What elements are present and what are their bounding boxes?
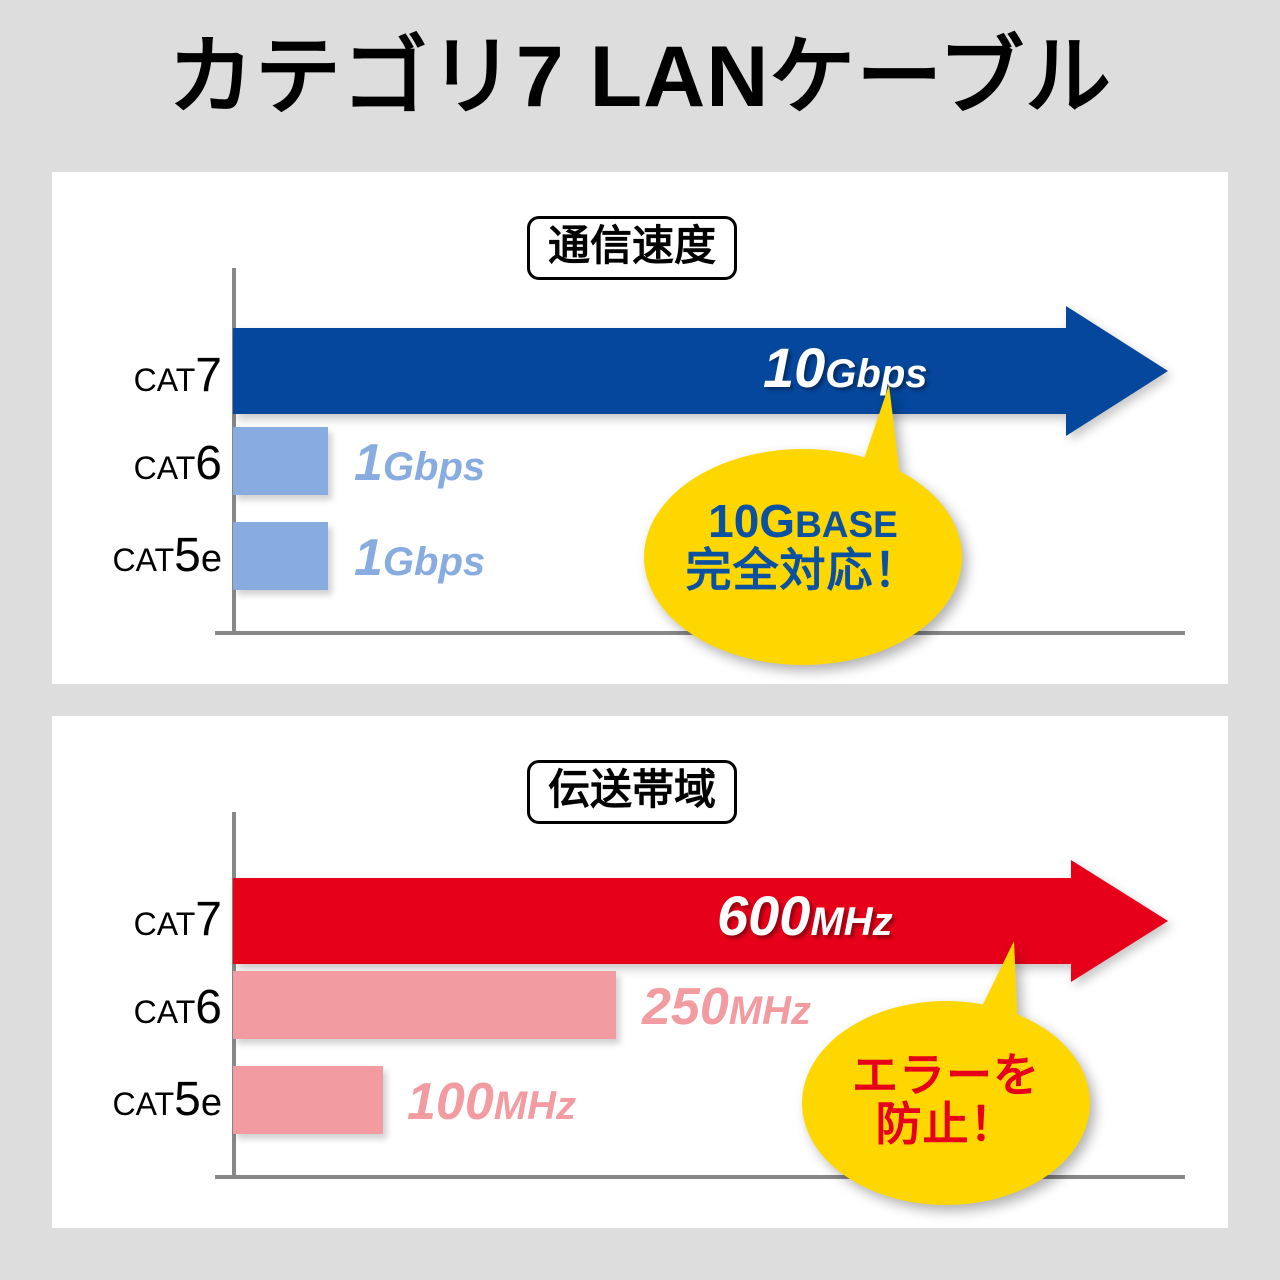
bandwidth-chart-caption: 伝送帯域 [527, 760, 737, 824]
value-unit: MHz [810, 900, 892, 944]
cat-word: CAT [113, 542, 175, 578]
speed-panel: 通信速度 CAT7 CAT6 CAT5e 10Gbps 1Gbps [52, 172, 1228, 684]
speed-value-cat5e: 1Gbps [354, 532, 485, 584]
value-unit: Gbps [383, 540, 485, 584]
bandwidth-value-cat7: 600MHz [717, 888, 893, 944]
speed-chart-caption: 通信速度 [527, 216, 737, 280]
value-number: 1 [354, 529, 383, 587]
cat-word: CAT [134, 362, 196, 398]
bandwidth-bar-cat5e [233, 1066, 383, 1134]
value-unit: MHz [729, 989, 811, 1033]
bandwidth-category-label-cat7: CAT7 [52, 896, 222, 944]
cat-suffix: e [201, 1082, 222, 1124]
value-number: 100 [407, 1073, 494, 1131]
cat-word: CAT [134, 450, 196, 486]
speed-category-label-cat5e: CAT5e [52, 532, 222, 580]
cat-suffix: e [201, 538, 222, 580]
speed-bar-cat5e [233, 522, 328, 590]
page-title: カテゴリ7 LANケーブル [0, 34, 1280, 120]
cat-word: CAT [113, 1086, 175, 1122]
cat-number: 5 [174, 1073, 201, 1126]
speed-category-label-cat7: CAT7 [52, 352, 222, 400]
cat-number: 6 [195, 981, 222, 1034]
bandwidth-chart: 伝送帯域 CAT7 CAT6 CAT5e 600MHz 250MHz [52, 716, 1228, 1228]
bandwidth-value-cat6: 250MHz [642, 981, 811, 1033]
value-number: 1 [354, 434, 383, 492]
speed-category-label-cat6: CAT6 [52, 440, 222, 488]
value-number: 250 [642, 978, 729, 1036]
speed-callout-bubble: 10GBASE 完全対応！ [644, 385, 962, 665]
speed-bar-cat6 [233, 427, 328, 495]
bandwidth-panel: 伝送帯域 CAT7 CAT6 CAT5e 600MHz 250MHz [52, 716, 1228, 1228]
bandwidth-bar-cat6 [233, 971, 616, 1039]
bandwidth-value-cat5e: 100MHz [407, 1076, 576, 1128]
value-unit: Gbps [383, 445, 485, 489]
cat-word: CAT [134, 906, 196, 942]
cat-number: 5 [174, 529, 201, 582]
cat-word: CAT [134, 994, 196, 1030]
bandwidth-callout-bubble: エラーを 防止！ [802, 941, 1090, 1205]
cat-number: 7 [195, 349, 222, 402]
cat-number: 7 [195, 893, 222, 946]
value-number: 600 [717, 884, 810, 947]
bandwidth-category-label-cat6: CAT6 [52, 984, 222, 1032]
cat-number: 6 [195, 437, 222, 490]
speed-value-cat6: 1Gbps [354, 437, 485, 489]
speed-chart: 通信速度 CAT7 CAT6 CAT5e 10Gbps 1Gbps [52, 172, 1228, 684]
bandwidth-category-label-cat5e: CAT5e [52, 1076, 222, 1124]
value-unit: MHz [494, 1084, 576, 1128]
